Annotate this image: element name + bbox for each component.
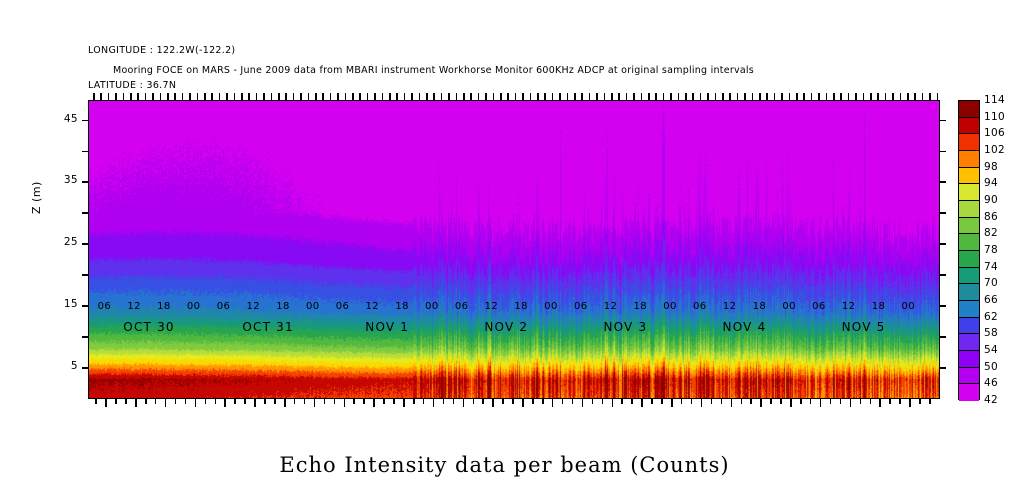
colorbar-band [959,251,979,268]
x-axis-top-tick [167,93,169,101]
x-axis-top-tick [796,93,798,101]
x-axis-tick [433,398,435,407]
figure-caption: Echo Intensity data per beam (Counts) [0,453,1009,477]
y-axis-tick [82,336,89,338]
x-axis-top-tick [382,93,384,101]
x-axis-minor-tick [125,398,127,404]
x-axis-minor-tick [482,398,484,404]
y-axis-tick [939,212,946,214]
x-axis-tick-label: 18 [634,301,648,312]
colorbar-band [959,351,979,368]
x-axis-minor-tick [840,398,842,404]
x-axis-top-tick [271,93,273,101]
x-axis-top-tick [855,93,857,101]
x-axis-top-tick [744,93,746,101]
colorbar-band [959,234,979,251]
x-axis-top-tick [515,93,517,101]
colorbar-band [959,134,979,151]
x-axis-top-tick [234,93,236,101]
x-axis-top-tick [766,93,768,101]
x-axis-top-tick [544,93,546,101]
x-axis-tick [671,398,673,407]
colorbar-tick-label: 106 [984,127,1005,139]
x-axis-minor-tick [661,398,663,404]
x-axis-minor-tick [621,398,623,404]
x-axis-top-tick [337,93,339,101]
x-axis-top-tick [759,93,761,101]
x-axis-top-tick [396,93,398,101]
x-axis-top-tick [522,93,524,101]
y-axis-tick [939,367,946,369]
x-axis-tick-label: 06 [812,301,826,312]
x-axis-tick-label: 18 [276,301,290,312]
x-axis-top-tick [108,93,110,101]
x-axis-tick [344,398,346,407]
x-axis-minor-tick [800,398,802,404]
x-axis-tick-label: 18 [157,301,171,312]
x-axis-minor-tick [473,398,475,404]
colorbar-band [959,284,979,301]
x-axis-tick-label: 18 [395,301,409,312]
x-axis-top-tick [330,93,332,101]
colorbar-band [959,201,979,218]
x-axis-top-tick [182,93,184,101]
x-axis-top-tick [914,93,916,101]
y-axis-tick [82,274,89,276]
x-axis-top-tick [774,93,776,101]
x-axis-top-tick [892,93,894,101]
x-axis-day-label: NOV 4 [723,320,767,334]
x-axis-top-tick [848,93,850,101]
colorbar-band [959,268,979,285]
x-axis-tick-label: 12 [366,301,380,312]
x-axis-tick [224,398,226,407]
x-axis-tick [195,398,197,407]
x-axis-tick-label: 00 [901,301,915,312]
x-axis-top-tick [219,93,221,101]
x-axis-minor-tick [681,398,683,404]
y-axis-tick-label: 45 [52,113,78,125]
colorbar-tick-label: 82 [984,227,998,239]
x-axis-top-tick [641,93,643,101]
x-axis-minor-tick [443,398,445,404]
x-axis-top-tick [500,93,502,101]
x-axis-tick-label: 06 [574,301,588,312]
x-axis-top-tick [678,93,680,101]
y-axis-tick-label: 5 [52,360,78,372]
colorbar-band [959,218,979,235]
colorbar-tick-label: 78 [984,244,998,256]
y-axis-tick-label: 35 [52,174,78,186]
colorbar-band [959,368,979,385]
x-axis-top-tick [900,93,902,101]
x-axis-day-label: NOV 1 [365,320,409,334]
colorbar-tick-label: 66 [984,294,998,306]
x-axis-top-tick [581,93,583,101]
x-axis-top-tick [929,93,931,101]
x-axis-tick-label: 18 [753,301,767,312]
y-axis-tick [82,212,89,214]
x-axis-top-tick [256,93,258,101]
x-axis-top-tick [367,93,369,101]
x-axis-top-tick [123,93,125,101]
x-axis-top-tick [567,93,569,101]
colorbar-tick-label: 50 [984,361,998,373]
x-axis-top-tick [463,93,465,101]
x-axis-top-tick [145,93,147,101]
y-axis-tick [939,181,946,183]
x-axis-minor-tick [363,398,365,404]
x-axis-top-tick [722,93,724,101]
x-axis-minor-tick [244,398,246,404]
x-axis-top-tick [663,93,665,101]
x-axis-tick-label: 12 [485,301,499,312]
x-axis-day-label: OCT 30 [123,320,174,334]
x-axis-minor-tick [572,398,574,404]
x-axis-top-tick [633,93,635,101]
x-axis-top-tick [885,93,887,101]
x-axis-tick-label: 18 [514,301,528,312]
x-axis-top-tick [877,93,879,101]
x-axis-top-tick [345,93,347,101]
x-axis-tick-label: 00 [306,301,320,312]
x-axis-tick [820,398,822,407]
x-axis-top-tick [715,93,717,101]
x-axis-top-tick [729,93,731,101]
x-axis-tick-label: 06 [336,301,350,312]
x-axis-day-label: NOV 2 [484,320,528,334]
x-axis-tick-label: 00 [544,301,558,312]
x-axis-top-tick [559,93,561,101]
x-axis-tick [403,398,405,407]
y-axis-tick [939,243,946,245]
x-axis-top-tick [922,93,924,101]
y-axis-tick [82,367,89,369]
x-axis-tick-label: 00 [425,301,439,312]
x-axis-tick-label: 18 [872,301,886,312]
x-axis-tick [135,398,137,407]
colorbar-tick-label: 114 [984,94,1005,106]
x-axis-minor-tick [185,398,187,404]
x-axis-minor-tick [294,398,296,404]
x-axis-top-tick [130,93,132,101]
colorbar-tick-label: 62 [984,311,998,323]
x-axis-top-tick [241,93,243,101]
x-axis-top-tick [485,93,487,101]
x-axis-top-tick [315,93,317,101]
x-axis-tick [850,398,852,407]
x-axis-tick [641,398,643,407]
colorbar-tick-label: 110 [984,111,1005,123]
y-axis-tick [82,243,89,245]
x-axis-top-tick [93,93,95,101]
x-axis-top-tick [596,93,598,101]
x-axis-top-tick [411,93,413,101]
colorbar-tick-label: 98 [984,161,998,173]
x-axis-minor-tick [423,398,425,404]
x-axis-top-tick [278,93,280,101]
x-axis-top-tick [100,93,102,101]
x-axis-top-tick [818,93,820,101]
x-axis-minor-tick [304,398,306,404]
x-axis-top-tick [781,93,783,101]
x-axis-top-tick [160,93,162,101]
x-axis-day-label: NOV 5 [842,320,886,334]
x-axis-tick-label: 12 [842,301,856,312]
x-axis-tick [909,398,911,407]
x-axis-tick-label: 00 [663,301,677,312]
x-axis-minor-tick [830,398,832,404]
x-axis-top-tick [426,93,428,101]
x-axis-minor-tick [393,398,395,404]
y-axis-tick-label: 15 [52,298,78,310]
x-axis-top-tick [478,93,480,101]
x-axis-top-tick [611,93,613,101]
plot-title: Mooring FOCE on MARS - June 2009 data fr… [113,65,754,76]
colorbar-band [959,184,979,201]
heatmap-plot-area [88,100,940,399]
x-axis-tick-label: 00 [187,301,201,312]
x-axis-minor-tick [592,398,594,404]
x-axis-top-tick [263,93,265,101]
x-axis-top-tick [552,93,554,101]
x-axis-minor-tick [353,398,355,404]
x-axis-minor-tick [115,398,117,404]
x-axis-top-tick [626,93,628,101]
x-axis-top-tick [589,93,591,101]
x-axis-tick-label: 00 [782,301,796,312]
x-axis-tick [314,398,316,407]
x-axis-minor-tick [175,398,177,404]
x-axis-top-tick [937,93,939,101]
x-axis-top-tick [389,93,391,101]
x-axis-minor-tick [899,398,901,404]
x-axis-minor-tick [741,398,743,404]
x-axis-top-tick [840,93,842,101]
x-axis-top-tick [507,93,509,101]
colorbar-band [959,168,979,185]
x-axis-tick-label: 06 [693,301,707,312]
y-axis-label: Z (m) [30,181,43,214]
x-axis-tick [879,398,881,407]
x-axis-top-tick [789,93,791,101]
x-axis-minor-tick [721,398,723,404]
x-axis-top-tick [811,93,813,101]
x-axis-top-tick [907,93,909,101]
colorbar-tick-label: 42 [984,394,998,406]
x-axis-tick [552,398,554,407]
x-axis-minor-tick [95,398,97,404]
x-axis-top-tick [404,93,406,101]
x-axis-minor-tick [324,398,326,404]
x-axis-minor-tick [145,398,147,404]
heatmap-canvas [89,101,939,398]
x-axis-tick [612,398,614,407]
x-axis-minor-tick [264,398,266,404]
x-axis-top-tick [618,93,620,101]
x-axis-minor-tick [651,398,653,404]
colorbar-band [959,118,979,135]
x-axis-tick [105,398,107,407]
x-axis-minor-tick [562,398,564,404]
colorbar-tick-label: 102 [984,144,1005,156]
x-axis-top-tick [419,93,421,101]
x-axis-tick-label: 06 [217,301,231,312]
x-axis-tick-label: 12 [723,301,737,312]
x-axis-top-tick [300,93,302,101]
x-axis-top-tick [692,93,694,101]
x-axis-top-tick [322,93,324,101]
colorbar-tick-label: 90 [984,194,998,206]
x-axis-tick-label: 06 [455,301,469,312]
x-axis-top-tick [308,93,310,101]
y-axis-tick [82,181,89,183]
colorbar-band [959,301,979,318]
colorbar-tick-label: 46 [984,377,998,389]
x-axis-tick [254,398,256,407]
y-axis-tick [939,305,946,307]
colorbar-tick-label: 54 [984,344,998,356]
x-axis-minor-tick [889,398,891,404]
x-axis-tick [522,398,524,407]
x-axis-minor-tick [860,398,862,404]
colorbar-band [959,334,979,351]
y-axis-tick [939,274,946,276]
x-axis-minor-tick [780,398,782,404]
x-axis-minor-tick [602,398,604,404]
x-axis-top-tick [285,93,287,101]
longitude-text: LONGITUDE : 122.2W(-122.2) [88,45,235,57]
x-axis-tick [760,398,762,407]
x-axis-tick-label: 06 [98,301,112,312]
colorbar [958,100,980,400]
x-axis-minor-tick [691,398,693,404]
x-axis-minor-tick [234,398,236,404]
colorbar-band [959,151,979,168]
x-axis-minor-tick [711,398,713,404]
x-axis-minor-tick [870,398,872,404]
x-axis-top-tick [456,93,458,101]
x-axis-top-tick [197,93,199,101]
colorbar-tick-label: 86 [984,211,998,223]
colorbar-band [959,318,979,335]
x-axis-tick [373,398,375,407]
colorbar-band [959,101,979,118]
x-axis-minor-tick [770,398,772,404]
x-axis-tick [790,398,792,407]
x-axis-top-tick [211,93,213,101]
x-axis-minor-tick [919,398,921,404]
y-axis-tick [939,151,946,153]
x-axis-top-tick [803,93,805,101]
x-axis-top-tick [248,93,250,101]
x-axis-top-tick [174,93,176,101]
x-axis-minor-tick [750,398,752,404]
x-axis-minor-tick [274,398,276,404]
x-axis-minor-tick [453,398,455,404]
x-axis-minor-tick [929,398,931,404]
x-axis-minor-tick [542,398,544,404]
x-axis-top-tick [226,93,228,101]
x-axis-tick [165,398,167,407]
colorbar-band [959,384,979,401]
x-axis-top-tick [826,93,828,101]
x-axis-top-tick [685,93,687,101]
x-axis-top-tick [470,93,472,101]
y-axis-tick [82,151,89,153]
x-axis-top-tick [707,93,709,101]
y-axis-tick [82,120,89,122]
x-axis-minor-tick [215,398,217,404]
latitude-text: LATITUDE : 36.7N [88,80,235,92]
x-axis-top-tick [152,93,154,101]
x-axis-top-tick [537,93,539,101]
y-axis-tick [939,120,946,122]
x-axis-top-tick [433,93,435,101]
x-axis-top-tick [359,93,361,101]
x-axis-top-tick [493,93,495,101]
x-axis-top-tick [700,93,702,101]
x-axis-minor-tick [383,398,385,404]
x-axis-tick [701,398,703,407]
x-axis-top-tick [448,93,450,101]
x-axis-tick-label: 12 [127,301,141,312]
x-axis-top-tick [648,93,650,101]
y-axis-tick [82,305,89,307]
x-axis-top-tick [604,93,606,101]
x-axis-top-tick [293,93,295,101]
x-axis-tick [582,398,584,407]
colorbar-tick-label: 70 [984,277,998,289]
colorbar-tick-label: 58 [984,327,998,339]
x-axis-top-tick [137,93,139,101]
x-axis-minor-tick [205,398,207,404]
x-axis-minor-tick [631,398,633,404]
x-axis-minor-tick [155,398,157,404]
x-axis-top-tick [833,93,835,101]
x-axis-tick [463,398,465,407]
x-axis-top-tick [374,93,376,101]
x-axis-top-tick [670,93,672,101]
x-axis-minor-tick [502,398,504,404]
x-axis-day-label: NOV 3 [603,320,647,334]
x-axis-top-tick [189,93,191,101]
x-axis-tick-label: 12 [246,301,260,312]
y-axis-tick [939,336,946,338]
x-axis-tick [492,398,494,407]
x-axis-top-tick [204,93,206,101]
x-axis-top-tick [352,93,354,101]
x-axis-minor-tick [512,398,514,404]
x-axis-top-tick [655,93,657,101]
x-axis-minor-tick [532,398,534,404]
colorbar-tick-label: 74 [984,261,998,273]
x-axis-top-tick [574,93,576,101]
x-axis-top-tick [530,93,532,101]
x-axis-top-tick [752,93,754,101]
y-axis-tick-label: 25 [52,236,78,248]
x-axis-top-tick [870,93,872,101]
x-axis-minor-tick [810,398,812,404]
x-axis-minor-tick [334,398,336,404]
x-axis-top-tick [441,93,443,101]
x-axis-tick-label: 12 [604,301,618,312]
x-axis-tick [731,398,733,407]
x-axis-top-tick [115,93,117,101]
x-axis-tick [284,398,286,407]
x-axis-top-tick [863,93,865,101]
x-axis-day-label: OCT 31 [242,320,293,334]
